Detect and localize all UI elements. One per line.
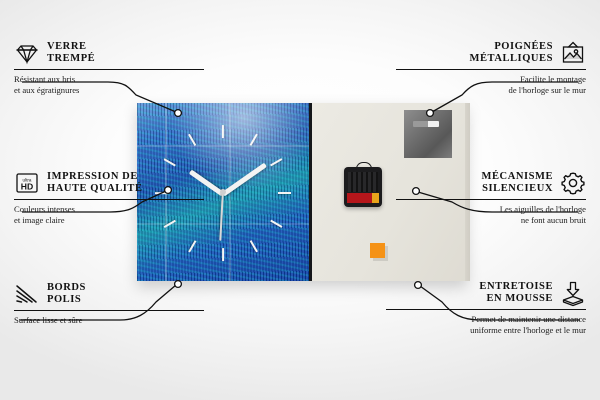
quartz-mechanism-box xyxy=(344,167,382,207)
hour-mark xyxy=(222,193,224,261)
callout-title: ENTRETOISE EN MOUSSE xyxy=(479,281,553,306)
desc-line-1: Permet de maintenir une distance xyxy=(386,314,586,324)
callout-header: MÉCANISME SILENCIEUX xyxy=(396,170,586,196)
hour-mark xyxy=(222,134,258,194)
desc-line-1: Résistant aux bris xyxy=(14,74,204,84)
title-line-2: MÉTALLIQUES xyxy=(470,53,553,66)
desc-line-2: uniforme entre l'horloge et le mur xyxy=(386,325,586,335)
mechanism-label xyxy=(347,193,379,203)
desc-line-2: et image claire xyxy=(14,215,204,225)
title-line-2: HAUTE QUALITÉ xyxy=(47,183,143,196)
mechanism-vents xyxy=(348,172,378,192)
desc-line-2: de l'horloge sur le mur xyxy=(396,85,586,95)
title-line-1: POIGNÉES xyxy=(470,41,553,54)
callout-title: BORDS POLIS xyxy=(47,282,86,307)
desc-line-1: Facilite le montage xyxy=(396,74,586,84)
hour-mark xyxy=(223,192,291,194)
callout-description: Facilite le montage de l'horloge sur le … xyxy=(396,74,586,95)
callout-description: Permet de maintenir une distance uniform… xyxy=(386,314,586,335)
divider xyxy=(386,309,586,310)
title-line-2: TREMPÉ xyxy=(47,53,95,66)
callout-description: Surface lisse et sûre xyxy=(14,315,204,325)
divider xyxy=(14,69,204,70)
divider xyxy=(14,310,204,311)
callout-bords-polis: BORDS POLIS Surface lisse et sûre xyxy=(14,281,204,326)
callout-title: POIGNÉES MÉTALLIQUES xyxy=(470,41,553,66)
title-line-2: EN MOUSSE xyxy=(479,293,553,306)
desc-line-1: Les aiguilles de l'horloge xyxy=(396,204,586,214)
second-hand xyxy=(220,193,224,241)
ultra-hd-badge-icon: ultra HD xyxy=(14,170,40,196)
callout-mecanisme-silencieux: MÉCANISME SILENCIEUX Les aiguilles de l'… xyxy=(396,170,586,225)
callout-header: BORDS POLIS xyxy=(14,281,204,307)
callout-entretoise-mousse: ENTRETOISE EN MOUSSE Permet de maintenir… xyxy=(386,280,586,335)
title-line-1: VERRE xyxy=(47,41,95,54)
mechanism-hook xyxy=(356,162,372,170)
callout-title: MÉCANISME SILENCIEUX xyxy=(482,171,553,196)
foam-spacer xyxy=(370,243,385,258)
callout-description: Résistant aux bris et aux égratignures xyxy=(14,74,204,95)
callout-header: ultra HD IMPRESSION DE HAUTE QUALITÉ xyxy=(14,170,204,196)
metal-hanger-bracket xyxy=(404,110,452,158)
divider xyxy=(396,199,586,200)
desc-line-1: Surface lisse et sûre xyxy=(14,315,204,325)
title-line-1: BORDS xyxy=(47,282,86,295)
title-line-1: IMPRESSION DE xyxy=(47,171,143,184)
callout-poignees-metalliques: POIGNÉES MÉTALLIQUES Facilite le montage… xyxy=(396,40,586,95)
minute-hand xyxy=(222,163,267,197)
callout-header: POIGNÉES MÉTALLIQUES xyxy=(396,40,586,66)
polished-edge-icon xyxy=(14,281,40,307)
desc-line-2: ne font aucun bruit xyxy=(396,215,586,225)
divider xyxy=(14,199,204,200)
callout-description: Couleurs intenses et image claire xyxy=(14,204,204,225)
hour-mark xyxy=(222,125,224,193)
callout-description: Les aiguilles de l'horloge ne font aucun… xyxy=(396,204,586,225)
hour-mark xyxy=(222,158,282,194)
hour-mark xyxy=(222,192,282,228)
picture-hanger-icon xyxy=(560,40,586,66)
foam-spacer-icon xyxy=(560,280,586,306)
callout-header: ENTRETOISE EN MOUSSE xyxy=(386,280,586,306)
gear-icon xyxy=(560,170,586,196)
callout-title: IMPRESSION DE HAUTE QUALITÉ xyxy=(47,171,143,196)
title-line-1: MÉCANISME xyxy=(482,171,553,184)
title-line-1: ENTRETOISE xyxy=(479,281,553,294)
hour-mark xyxy=(222,193,258,253)
desc-line-1: Couleurs intenses xyxy=(14,204,204,214)
hanger-slot xyxy=(413,121,439,127)
center-cap xyxy=(220,189,226,195)
infographic-canvas: VERRE TREMPÉ Résistant aux bris et aux é… xyxy=(0,0,600,400)
callout-impression-hd: ultra HD IMPRESSION DE HAUTE QUALITÉ Cou… xyxy=(14,170,204,225)
divider xyxy=(396,69,586,70)
diamond-icon xyxy=(14,40,40,66)
callout-title: VERRE TREMPÉ xyxy=(47,41,95,66)
title-line-2: POLIS xyxy=(47,294,86,307)
svg-text:HD: HD xyxy=(21,182,33,192)
callout-header: VERRE TREMPÉ xyxy=(14,40,204,66)
title-line-2: SILENCIEUX xyxy=(482,183,553,196)
desc-line-2: et aux égratignures xyxy=(14,85,204,95)
callout-verre-trempe: VERRE TREMPÉ Résistant aux bris et aux é… xyxy=(14,40,204,95)
